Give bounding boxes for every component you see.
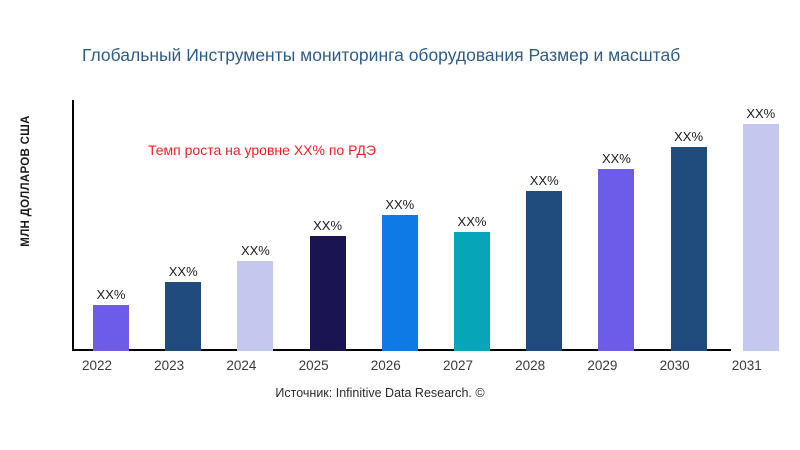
bar-rect[interactable] xyxy=(454,232,490,351)
bar-rect[interactable] xyxy=(382,215,418,351)
bar-2025[interactable]: XX% xyxy=(310,214,346,351)
bar-2024[interactable]: XX% xyxy=(237,239,273,351)
bar-rect[interactable] xyxy=(165,282,201,351)
x-tick-label-2026: 2026 xyxy=(354,358,418,373)
bar-rect[interactable] xyxy=(598,169,634,351)
bar-2030[interactable]: XX% xyxy=(671,125,707,351)
x-tick-label-2023: 2023 xyxy=(137,358,201,373)
bar-rect[interactable] xyxy=(743,124,779,351)
x-tick-label-2031: 2031 xyxy=(715,358,779,373)
bar-2031[interactable]: XX% xyxy=(743,102,779,351)
x-tick-label-2030: 2030 xyxy=(643,358,707,373)
bar-value-label: XX% xyxy=(584,151,648,166)
bar-value-label: XX% xyxy=(440,214,504,229)
bar-value-label: XX% xyxy=(368,197,432,212)
x-tick-label-2029: 2029 xyxy=(570,358,634,373)
bar-value-label: XX% xyxy=(223,243,287,258)
bar-2028[interactable]: XX% xyxy=(526,169,562,351)
bar-value-label: XX% xyxy=(729,106,793,121)
bar-2027[interactable]: XX% xyxy=(454,210,490,351)
bar-rect[interactable] xyxy=(237,261,273,351)
bar-2026[interactable]: XX% xyxy=(382,193,418,351)
bar-rect[interactable] xyxy=(671,147,707,351)
bar-rect[interactable] xyxy=(526,191,562,351)
x-tick-label-2024: 2024 xyxy=(209,358,273,373)
y-axis-title: МЛН ДОЛЛАРОВ США xyxy=(20,71,32,291)
bar-2023[interactable]: XX% xyxy=(165,260,201,351)
growth-rate-annotation: Темп роста на уровне XX% по РДЭ xyxy=(148,142,376,158)
plot-area: XX%XX%XX%XX%XX%XX%XX%XX%XX%XX% 202220232… xyxy=(72,100,800,352)
y-axis-line xyxy=(72,100,74,351)
bar-value-label: XX% xyxy=(151,264,215,279)
bar-rect[interactable] xyxy=(310,236,346,351)
x-tick-label-2027: 2027 xyxy=(426,358,490,373)
bar-value-label: XX% xyxy=(512,173,576,188)
bar-value-label: XX% xyxy=(296,218,360,233)
bar-value-label: XX% xyxy=(79,287,143,302)
x-tick-label-2022: 2022 xyxy=(65,358,129,373)
bar-2029[interactable]: XX% xyxy=(598,147,634,351)
bar-value-label: XX% xyxy=(657,129,721,144)
chart-title: Глобальный Инструменты мониторинга обору… xyxy=(82,44,798,66)
x-tick-label-2025: 2025 xyxy=(282,358,346,373)
source-note: Источник: Infinitive Data Research. © xyxy=(0,386,760,400)
bar-2022[interactable]: XX% xyxy=(93,283,129,351)
x-tick-label-2028: 2028 xyxy=(498,358,562,373)
bar-chart-figure: Глобальный Инструменты мониторинга обору… xyxy=(0,0,800,450)
bar-rect[interactable] xyxy=(93,305,129,351)
